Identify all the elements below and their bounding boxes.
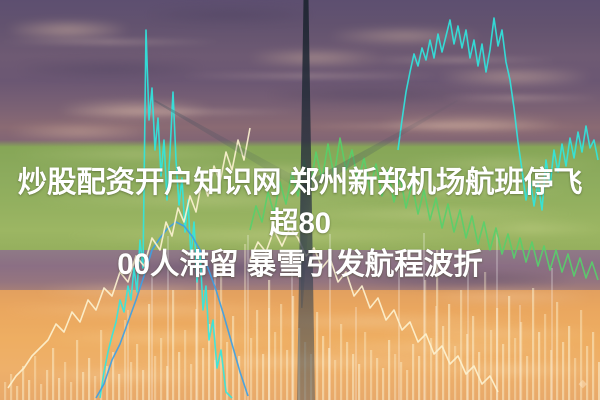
corner-watermark: ◆	[579, 377, 588, 390]
headline-line-1: 炒股配资开户知识网 郑州新郑机场航班停飞 超80	[1, 162, 599, 244]
headline-overlay: 炒股配资开户知识网 郑州新郑机场航班停飞 超80 00人滞留 暴雪引发航程波折	[0, 162, 600, 285]
headline-line-2: 00人滞留 暴雪引发航程波折	[1, 244, 599, 285]
news-thumbnail-image: 炒股配资开户知识网 郑州新郑机场航班停飞 超80 00人滞留 暴雪引发航程波折 …	[0, 0, 600, 400]
